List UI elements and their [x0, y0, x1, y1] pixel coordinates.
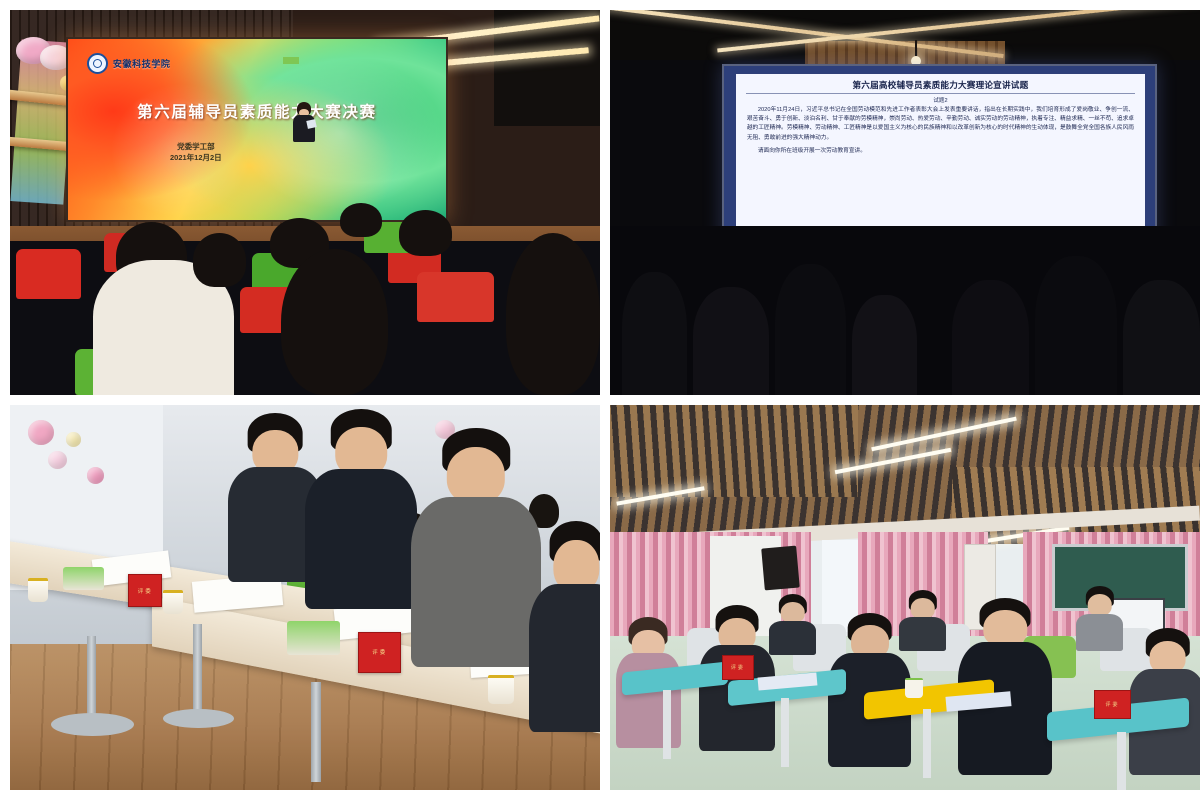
balloon-icon: [66, 432, 81, 447]
photo-collage: 安徽科技学院 第六届辅导员素质能力大赛决赛 党委学工部 2021年12月2日: [0, 0, 1200, 800]
slide-closing-line: 请面向你所在班级开展一次劳动教育宣讲。: [747, 147, 1134, 156]
audience-head: [506, 233, 600, 395]
judge-jacket: [411, 497, 541, 666]
university-logo-text: 安徽科技学院: [113, 57, 171, 70]
judge-jacket: [529, 584, 600, 732]
photo-panel-bottom-left: 评委 评委: [10, 405, 600, 790]
judge-placard-label: 评委: [731, 664, 745, 671]
university-logo: 安徽科技学院: [87, 53, 171, 74]
tissue-box: [63, 567, 104, 590]
attendee-face: [1087, 594, 1112, 616]
chair-red: [16, 249, 81, 299]
photo-panel-bottom-right: 评委 评委: [610, 405, 1200, 790]
paper-cup: [488, 675, 514, 705]
university-emblem-icon: [87, 53, 108, 74]
slide-main-title: 第六届辅导员素质能力大赛决赛: [68, 100, 446, 122]
judge-placard: 评委: [128, 574, 162, 607]
projection-screen: 安徽科技学院 第六届辅导员素质能力大赛决赛 党委学工部 2021年12月2日: [66, 37, 448, 222]
photo-panel-top-left: 安徽科技学院 第六届辅导员素质能力大赛决赛 党委学工部 2021年12月2日: [10, 10, 600, 395]
audience-head: [693, 287, 770, 395]
stage-presenter: [291, 102, 317, 142]
audience-head: [775, 264, 846, 395]
slide-subtitle-line2: 2021年12月2日: [170, 153, 222, 164]
judge-placard-label: 评委: [138, 587, 153, 595]
chair-red: [417, 272, 494, 322]
judge-face: [447, 447, 505, 504]
slide-subtitle: 试题2: [736, 96, 1145, 104]
audience-head: [281, 249, 387, 395]
attendee-back-row: [899, 590, 946, 652]
paper-cup: [905, 678, 923, 697]
attendee-coat: [769, 621, 816, 655]
table-leg: [311, 682, 321, 782]
judge-placard: 评委: [358, 632, 401, 673]
judge-placard-label: 评委: [1105, 701, 1119, 708]
attendee-back-row: [1076, 586, 1123, 651]
slide-body-paragraph: 2020年11月24日，习近平总书记在全国劳动模范和先进工作者表彰大会上发表重要…: [747, 106, 1134, 143]
audience-head: [399, 210, 452, 256]
desk-leg: [663, 690, 671, 759]
table-base: [51, 713, 134, 736]
judge-person: [411, 428, 541, 667]
presenter-script-paper: [306, 119, 316, 129]
slide-subtitle-line1: 党委学工部: [170, 142, 222, 153]
attendee-back-row: [769, 594, 816, 656]
audience-head: [622, 272, 687, 395]
audience-head: [952, 280, 1029, 396]
audience-head: [193, 233, 246, 287]
paper-cup: [163, 590, 183, 614]
judge-placard-label: 评委: [372, 648, 387, 656]
audience-head: [1123, 280, 1200, 396]
judge-jacket: [305, 469, 417, 609]
tissue-box: [287, 621, 340, 656]
attendee-coat: [1076, 614, 1123, 651]
judge-placard: 评委: [722, 655, 754, 680]
judge-placard: 评委: [1094, 690, 1131, 719]
table-leg: [87, 636, 96, 721]
paper-cup: [28, 578, 48, 602]
wall-speaker-icon: [762, 546, 801, 591]
table-leg: [193, 624, 202, 716]
attendee-coat: [899, 617, 946, 651]
desk-leg: [923, 709, 931, 778]
desk-leg: [781, 698, 789, 767]
photo-panel-top-right: 第六届高校辅导员素质能力大赛理论宣讲试题 试题2 2020年11月24日，习近平…: [610, 10, 1200, 395]
slide-subtitle: 党委学工部 2021年12月2日: [170, 142, 222, 164]
judge-person: [305, 409, 417, 609]
audience-head: [340, 203, 381, 238]
balloon-icon: [87, 467, 105, 484]
desk-leg: [1117, 732, 1126, 790]
balloon-icon: [48, 451, 67, 469]
judge-person: [529, 521, 600, 733]
slide-green-badge: [283, 57, 299, 64]
slide-title: 第六届高校辅导员素质能力大赛理论宣讲试题: [746, 79, 1135, 94]
wood-slat-ceiling-left: [610, 405, 858, 497]
audience-head: [1035, 256, 1118, 395]
audience-head: [852, 295, 917, 395]
